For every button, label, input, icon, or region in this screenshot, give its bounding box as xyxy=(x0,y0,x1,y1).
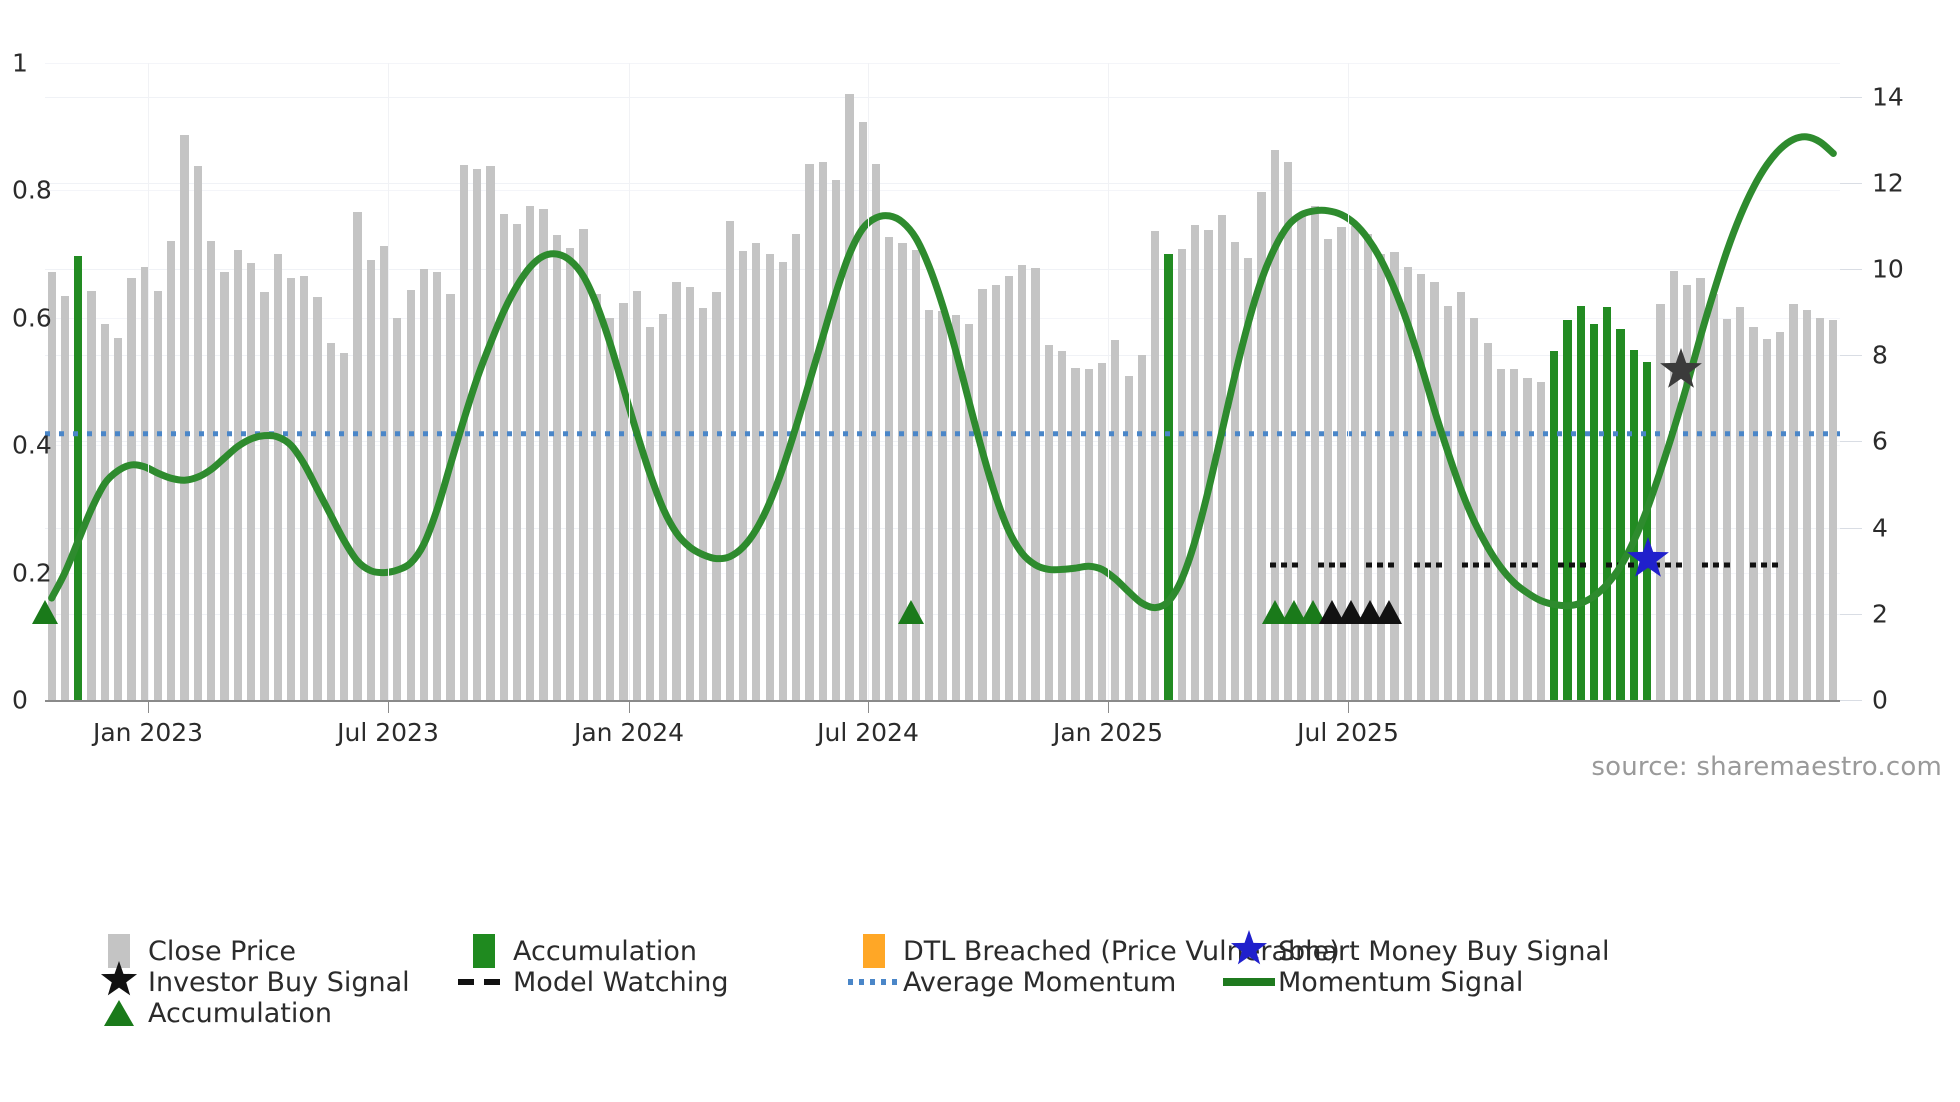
y-axis-right-tick-label: 6 xyxy=(1872,427,1888,456)
y-axis-right-tick-mark xyxy=(1840,441,1862,442)
x-axis-gridline xyxy=(148,63,149,700)
x-axis-tick-mark xyxy=(868,700,869,713)
legend-item-label: Accumulation xyxy=(148,998,332,1029)
chart-legend: Close PriceAccumulationDTL Breached (Pri… xyxy=(90,925,1920,1018)
x-axis-tick-label: Jan 2024 xyxy=(574,718,684,747)
y-axis-right-tick-mark xyxy=(1840,700,1862,701)
y-axis-right-tick-label: 12 xyxy=(1872,168,1904,197)
y-axis-left-tick-label: 0.4 xyxy=(12,431,52,460)
y-axis-right-tick-label: 14 xyxy=(1872,82,1904,111)
legend-item[interactable]: Accumulation xyxy=(90,987,332,1039)
x-axis-tick-label: Jul 2023 xyxy=(337,718,439,747)
accumulation-triangle-icon xyxy=(32,600,58,624)
y-axis-right-tick-label: 0 xyxy=(1872,686,1888,715)
y-axis-right-tick-label: 8 xyxy=(1872,341,1888,370)
x-axis-gridline xyxy=(868,63,869,700)
x-axis-tick-label: Jan 2025 xyxy=(1053,718,1163,747)
y-axis-right-tick-label: 10 xyxy=(1872,255,1904,284)
smart-money-buy-signal-star-icon xyxy=(1626,537,1670,585)
x-axis-tick-label: Jan 2023 xyxy=(93,718,203,747)
y-axis-left-tick-label: 1 xyxy=(12,49,28,78)
y-axis-left-tick-label: 0.8 xyxy=(12,176,52,205)
legend-row: Close PriceAccumulationDTL Breached (Pri… xyxy=(90,925,1920,956)
momentum-signal-path xyxy=(52,137,1834,608)
y-axis-left-tick-label: 0.6 xyxy=(12,303,52,332)
x-axis-tick-mark xyxy=(148,700,149,713)
x-axis-gridline xyxy=(388,63,389,700)
accumulation-triangle-icon xyxy=(1376,600,1402,624)
x-axis-tick-label: Jul 2025 xyxy=(1297,718,1399,747)
x-axis-tick-mark xyxy=(1108,700,1109,713)
y-axis-left-tick-label: 0.2 xyxy=(12,558,52,587)
accumulation-triangle-icon xyxy=(898,600,924,624)
y-axis-right-tick-mark xyxy=(1840,183,1862,184)
x-axis-line xyxy=(45,700,1840,702)
x-axis-tick-mark xyxy=(629,700,630,713)
y-axis-right-tick-mark xyxy=(1840,528,1862,529)
legend-row: Investor Buy SignalModel WatchingAverage… xyxy=(90,956,1920,987)
legend-row: Accumulation xyxy=(90,987,1920,1018)
legend-triangle-icon xyxy=(104,1000,134,1026)
y-axis-right-tick-label: 4 xyxy=(1872,513,1888,542)
x-axis-tick-mark xyxy=(388,700,389,713)
y-axis-right-tick-mark xyxy=(1840,614,1862,615)
y-axis-right-tick-mark xyxy=(1840,355,1862,356)
x-axis-gridline xyxy=(629,63,630,700)
x-axis-tick-label: Jul 2024 xyxy=(817,718,919,747)
momentum-signal-line xyxy=(45,63,1840,700)
investor-buy-signal-star-icon xyxy=(1659,348,1703,396)
source-attribution: source: sharemaestro.com xyxy=(1591,752,1942,782)
x-axis-gridline xyxy=(1108,63,1109,700)
y-axis-right-tick-label: 2 xyxy=(1872,599,1888,628)
chart-root: Jan 2023Jul 2023Jan 2024Jul 2024Jan 2025… xyxy=(0,0,1960,1102)
y-axis-left-tick-label: 0 xyxy=(12,686,28,715)
x-axis-tick-mark xyxy=(1348,700,1349,713)
y-axis-right-tick-mark xyxy=(1840,269,1862,270)
y-axis-right-tick-mark xyxy=(1840,97,1862,98)
